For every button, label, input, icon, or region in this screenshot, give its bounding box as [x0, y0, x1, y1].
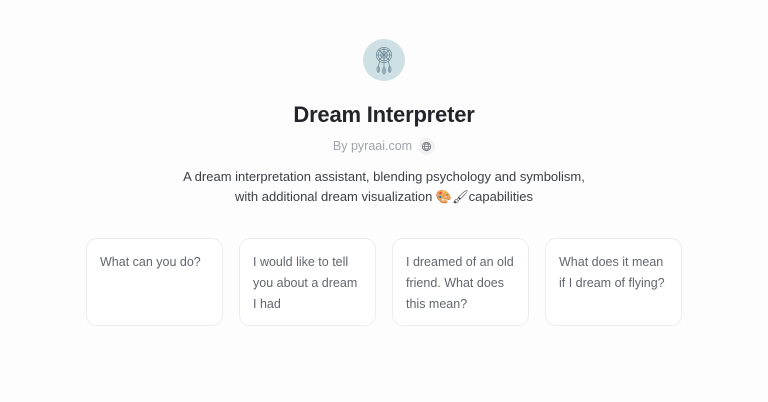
suggestion-card-1[interactable]: What can you do? — [86, 238, 223, 326]
description-line-1: A dream interpretation assistant, blendi… — [183, 167, 585, 187]
globe-glyph — [421, 141, 432, 152]
byline: By pyraai.com — [333, 138, 435, 155]
page-title: Dream Interpreter — [293, 103, 474, 127]
globe-icon[interactable] — [418, 138, 435, 155]
suggestion-card-2[interactable]: I would like to tell you about a dream I… — [239, 238, 376, 326]
byline-text: By pyraai.com — [333, 140, 412, 153]
dreamcatcher-icon — [367, 43, 401, 77]
description: A dream interpretation assistant, blendi… — [183, 167, 585, 208]
description-line-2-prefix: with additional dream visualization — [235, 189, 436, 204]
description-line-2: with additional dream visualization 🎨🖌ca… — [183, 187, 585, 208]
dream-interpreter-intro-page: Dream Interpreter By pyraai.com A dream … — [0, 0, 768, 402]
art-emoji: 🎨🖌 — [436, 190, 469, 205]
suggestion-cards: What can you do? I would like to tell yo… — [86, 238, 683, 326]
suggestion-card-4[interactable]: What does it mean if I dream of flying? — [545, 238, 682, 326]
description-line-2-suffix: capabilities — [469, 189, 533, 204]
avatar — [363, 39, 405, 81]
suggestion-card-3[interactable]: I dreamed of an old friend. What does th… — [392, 238, 529, 326]
